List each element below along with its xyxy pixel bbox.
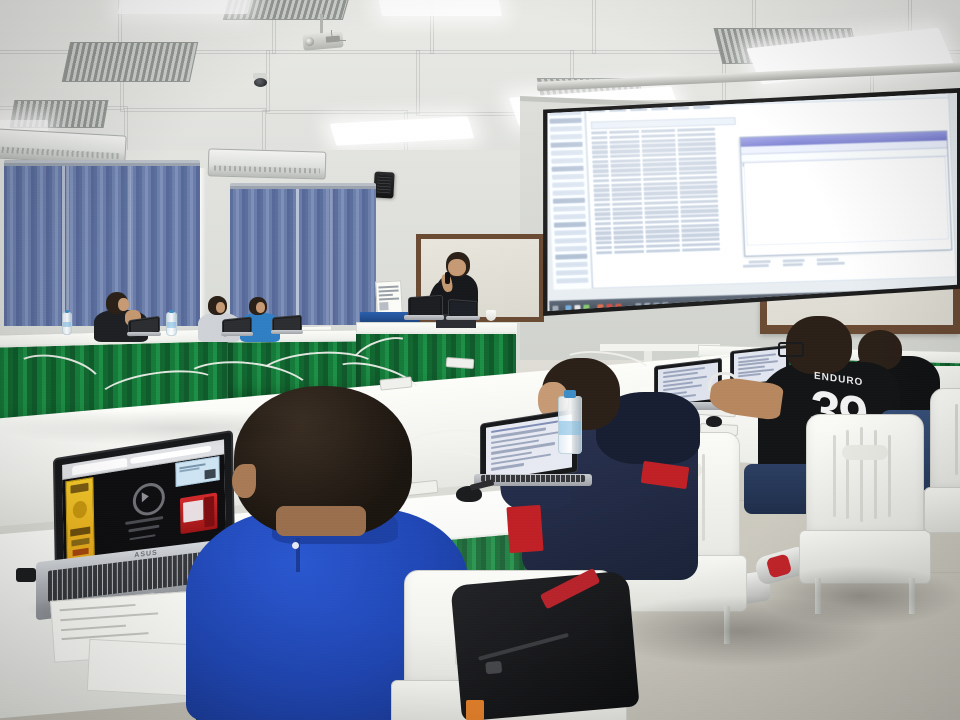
neck [276,506,366,536]
polo-button [292,542,299,549]
backpack-zipper [478,633,568,661]
usb-dongle[interactable] [16,568,36,582]
water-bottle[interactable] [558,396,582,454]
dome-security-camera [254,78,267,87]
classroom-photo: ENDURO 39 [0,0,960,720]
play-triangle-icon [142,491,149,502]
orange-container[interactable] [466,700,484,720]
water-bottle[interactable] [166,312,177,336]
presenter-laptop-2[interactable] [446,300,480,320]
screen-glare [545,92,792,246]
projection-screen-surface [545,92,957,312]
floor-shadow [760,566,960,626]
wireless-microphone[interactable] [445,272,450,284]
air-conditioner-center [208,148,327,179]
sleeve-patch [506,505,543,553]
laptop-back-center[interactable] [222,318,254,336]
standing-poster-sign [375,280,403,315]
floor-shadow [0,410,360,446]
power-strip[interactable] [446,357,475,369]
yellow-ad-text [70,526,90,536]
ceiling-light-panel [117,0,252,14]
presenter-laptop[interactable] [404,296,444,320]
white-plastic-chair[interactable] [930,388,960,558]
video-meta-line [128,525,159,533]
ceiling-light-panel [378,0,502,16]
browser-tab[interactable] [72,457,127,475]
wall-mounted-speaker [373,171,394,198]
laptop-back-left[interactable] [128,318,162,336]
ceiling-air-vent [62,42,199,82]
yellow-side-ad-banner[interactable] [66,477,95,563]
paper-cup[interactable] [486,310,496,321]
backpack-buckle [486,661,503,674]
water-bottle[interactable] [62,312,72,335]
ear [232,464,256,498]
laptop-back-right[interactable] [272,316,304,334]
projection-screen[interactable] [541,88,960,316]
projector-cable [331,30,346,41]
screen-glare-2 [772,114,957,268]
eyeglasses [778,342,804,357]
video-meta-line [130,534,156,541]
video-title-line [125,516,164,525]
